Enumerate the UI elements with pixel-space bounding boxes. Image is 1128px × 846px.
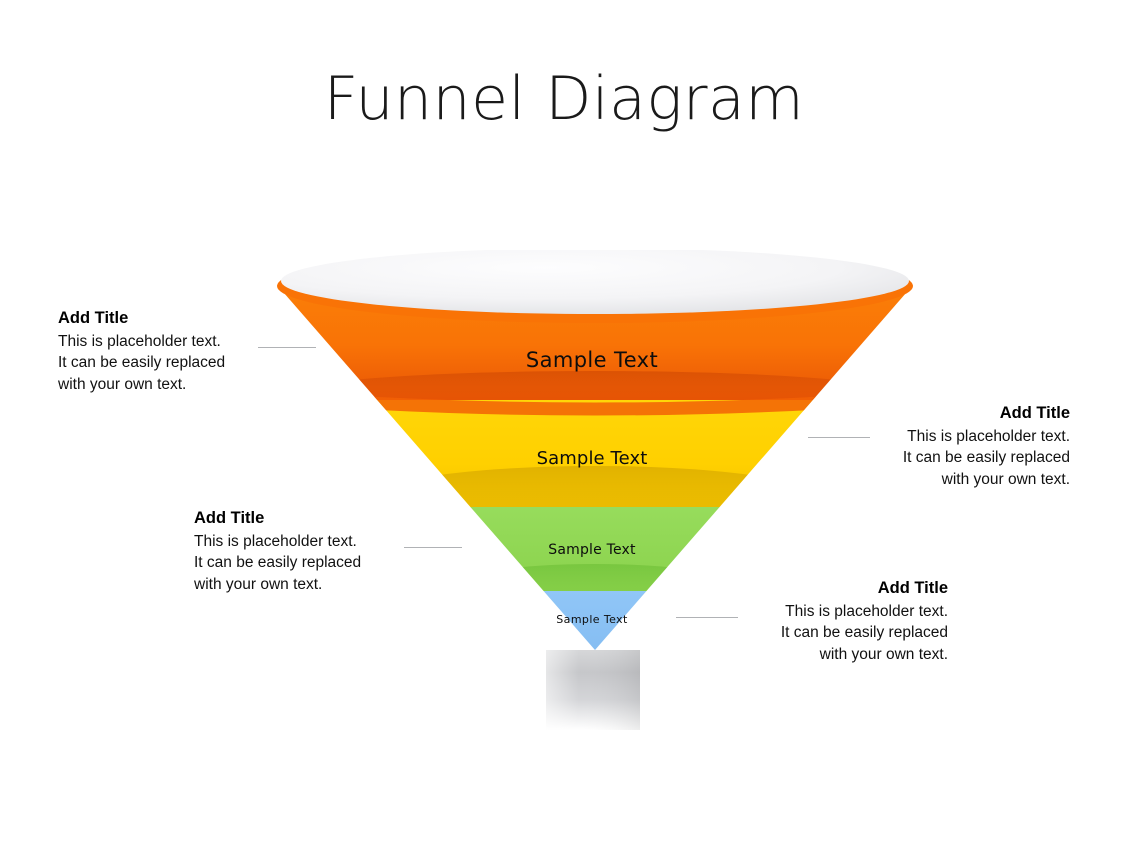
callout-orange[interactable]: Add Title This is placeholder text. It c… [58,308,268,395]
callout-blue-title: Add Title [752,578,948,600]
callout-orange-line-1: This is placeholder text. [58,331,268,352]
funnel-band-green-label: Sample Text [442,542,742,558]
funnel-mouth [277,250,913,323]
funnel-mouth-surface [281,250,909,314]
callout-yellow-line-3: with your own text. [828,469,1070,490]
page-title: Funnel Diagram [0,66,1128,132]
callout-orange-line-3: with your own text. [58,374,268,395]
callout-blue-line-3: with your own text. [752,644,948,665]
callout-green-line-3: with your own text. [194,574,402,595]
funnel-band-blue-label: Sample Text [467,613,717,626]
callout-orange-body: This is placeholder text. It can be easi… [58,331,268,395]
callout-yellow[interactable]: Add Title This is placeholder text. It c… [828,403,1070,490]
callout-green-title: Add Title [194,508,402,530]
callout-blue-line-2: It can be easily replaced [752,622,948,643]
callout-orange-line-2: It can be easily replaced [58,352,268,373]
callout-orange-title: Add Title [58,308,268,330]
callout-green-line-2: It can be easily replaced [194,552,402,573]
funnel-stem [546,650,640,730]
callout-green-line-1: This is placeholder text. [194,531,402,552]
callout-yellow-body: This is placeholder text. It can be easi… [828,426,1070,490]
callout-yellow-line-1: This is placeholder text. [828,426,1070,447]
callout-green[interactable]: Add Title This is placeholder text. It c… [194,508,402,595]
funnel-diagram-graphic [255,250,935,750]
callout-yellow-title: Add Title [828,403,1070,425]
callout-green-body: This is placeholder text. It can be easi… [194,531,402,595]
slide-canvas: Funnel Diagram [0,0,1128,846]
funnel-band-yellow-label: Sample Text [392,448,792,469]
callout-yellow-line-2: It can be easily replaced [828,447,1070,468]
callout-blue-body: This is placeholder text. It can be easi… [752,601,948,665]
callout-blue-line-1: This is placeholder text. [752,601,948,622]
connector-line-callout-4 [676,617,738,618]
connector-line-callout-3 [404,547,462,548]
callout-blue[interactable]: Add Title This is placeholder text. It c… [752,578,948,665]
funnel-band-orange-label: Sample Text [392,348,792,372]
